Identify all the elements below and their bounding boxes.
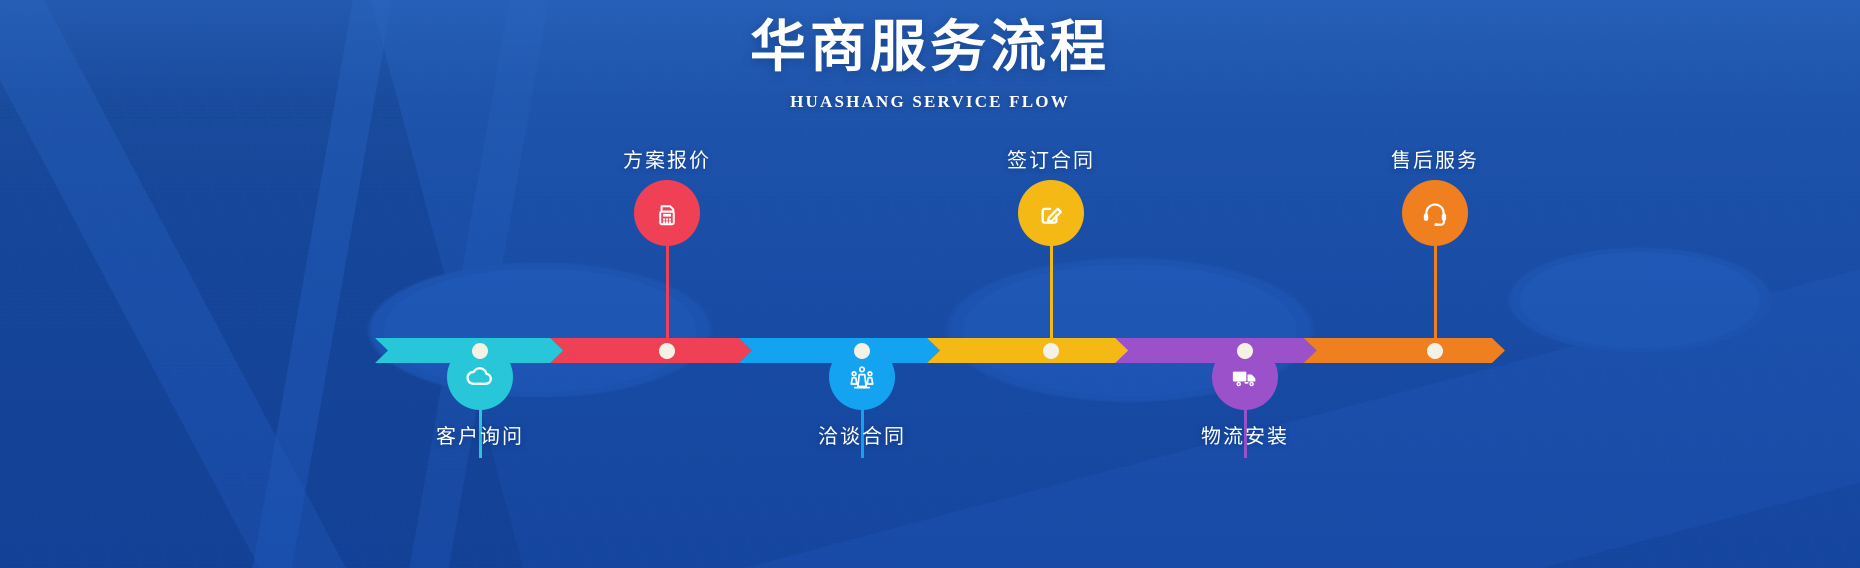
chat-cloud-icon [462,359,498,395]
flow-step-label-5: 物流安装 [1201,420,1289,449]
headset-support-icon [1417,195,1453,231]
flow-step-label-3: 洽谈合同 [818,420,906,449]
banner-header: 华商服务流程 HUASHANG SERVICE FLOW [0,0,1860,112]
flow-node-dot-5 [1237,343,1253,359]
flow-step-bubble-4[interactable] [1018,180,1084,246]
flow-step-bubble-2[interactable] [634,180,700,246]
calculator-quote-icon [649,195,685,231]
flow-node-dot-1 [472,343,488,359]
flow-step-label-2: 方案报价 [623,144,711,173]
flow-node-dot-2 [659,343,675,359]
connector-stem-6 [1434,232,1437,352]
connector-stem-2 [666,232,669,352]
page-subtitle: HUASHANG SERVICE FLOW [0,92,1860,112]
service-flow-banner: 华商服务流程 HUASHANG SERVICE FLOW 客户询问方案报价洽谈合… [0,0,1860,568]
flow-arrow-bar [375,338,1505,363]
flow-node-dot-6 [1427,343,1443,359]
flow-step-label-1: 客户询问 [436,420,524,449]
delivery-truck-icon [1227,359,1263,395]
flow-arrow-segment-4[interactable] [927,338,1128,363]
connector-stem-4 [1050,232,1053,352]
flow-arrow-segment-2[interactable] [550,338,751,363]
flow-step-label-6: 售后服务 [1391,144,1479,173]
flow-node-dot-4 [1043,343,1059,359]
flow-step-label-4: 签订合同 [1007,144,1095,173]
page-title: 华商服务流程 [0,0,1860,80]
flow-step-bubble-6[interactable] [1402,180,1468,246]
meeting-people-icon [844,359,880,395]
sign-pen-icon [1033,195,1069,231]
flow-arrow-segment-6[interactable] [1304,338,1505,363]
flow-node-dot-3 [854,343,870,359]
